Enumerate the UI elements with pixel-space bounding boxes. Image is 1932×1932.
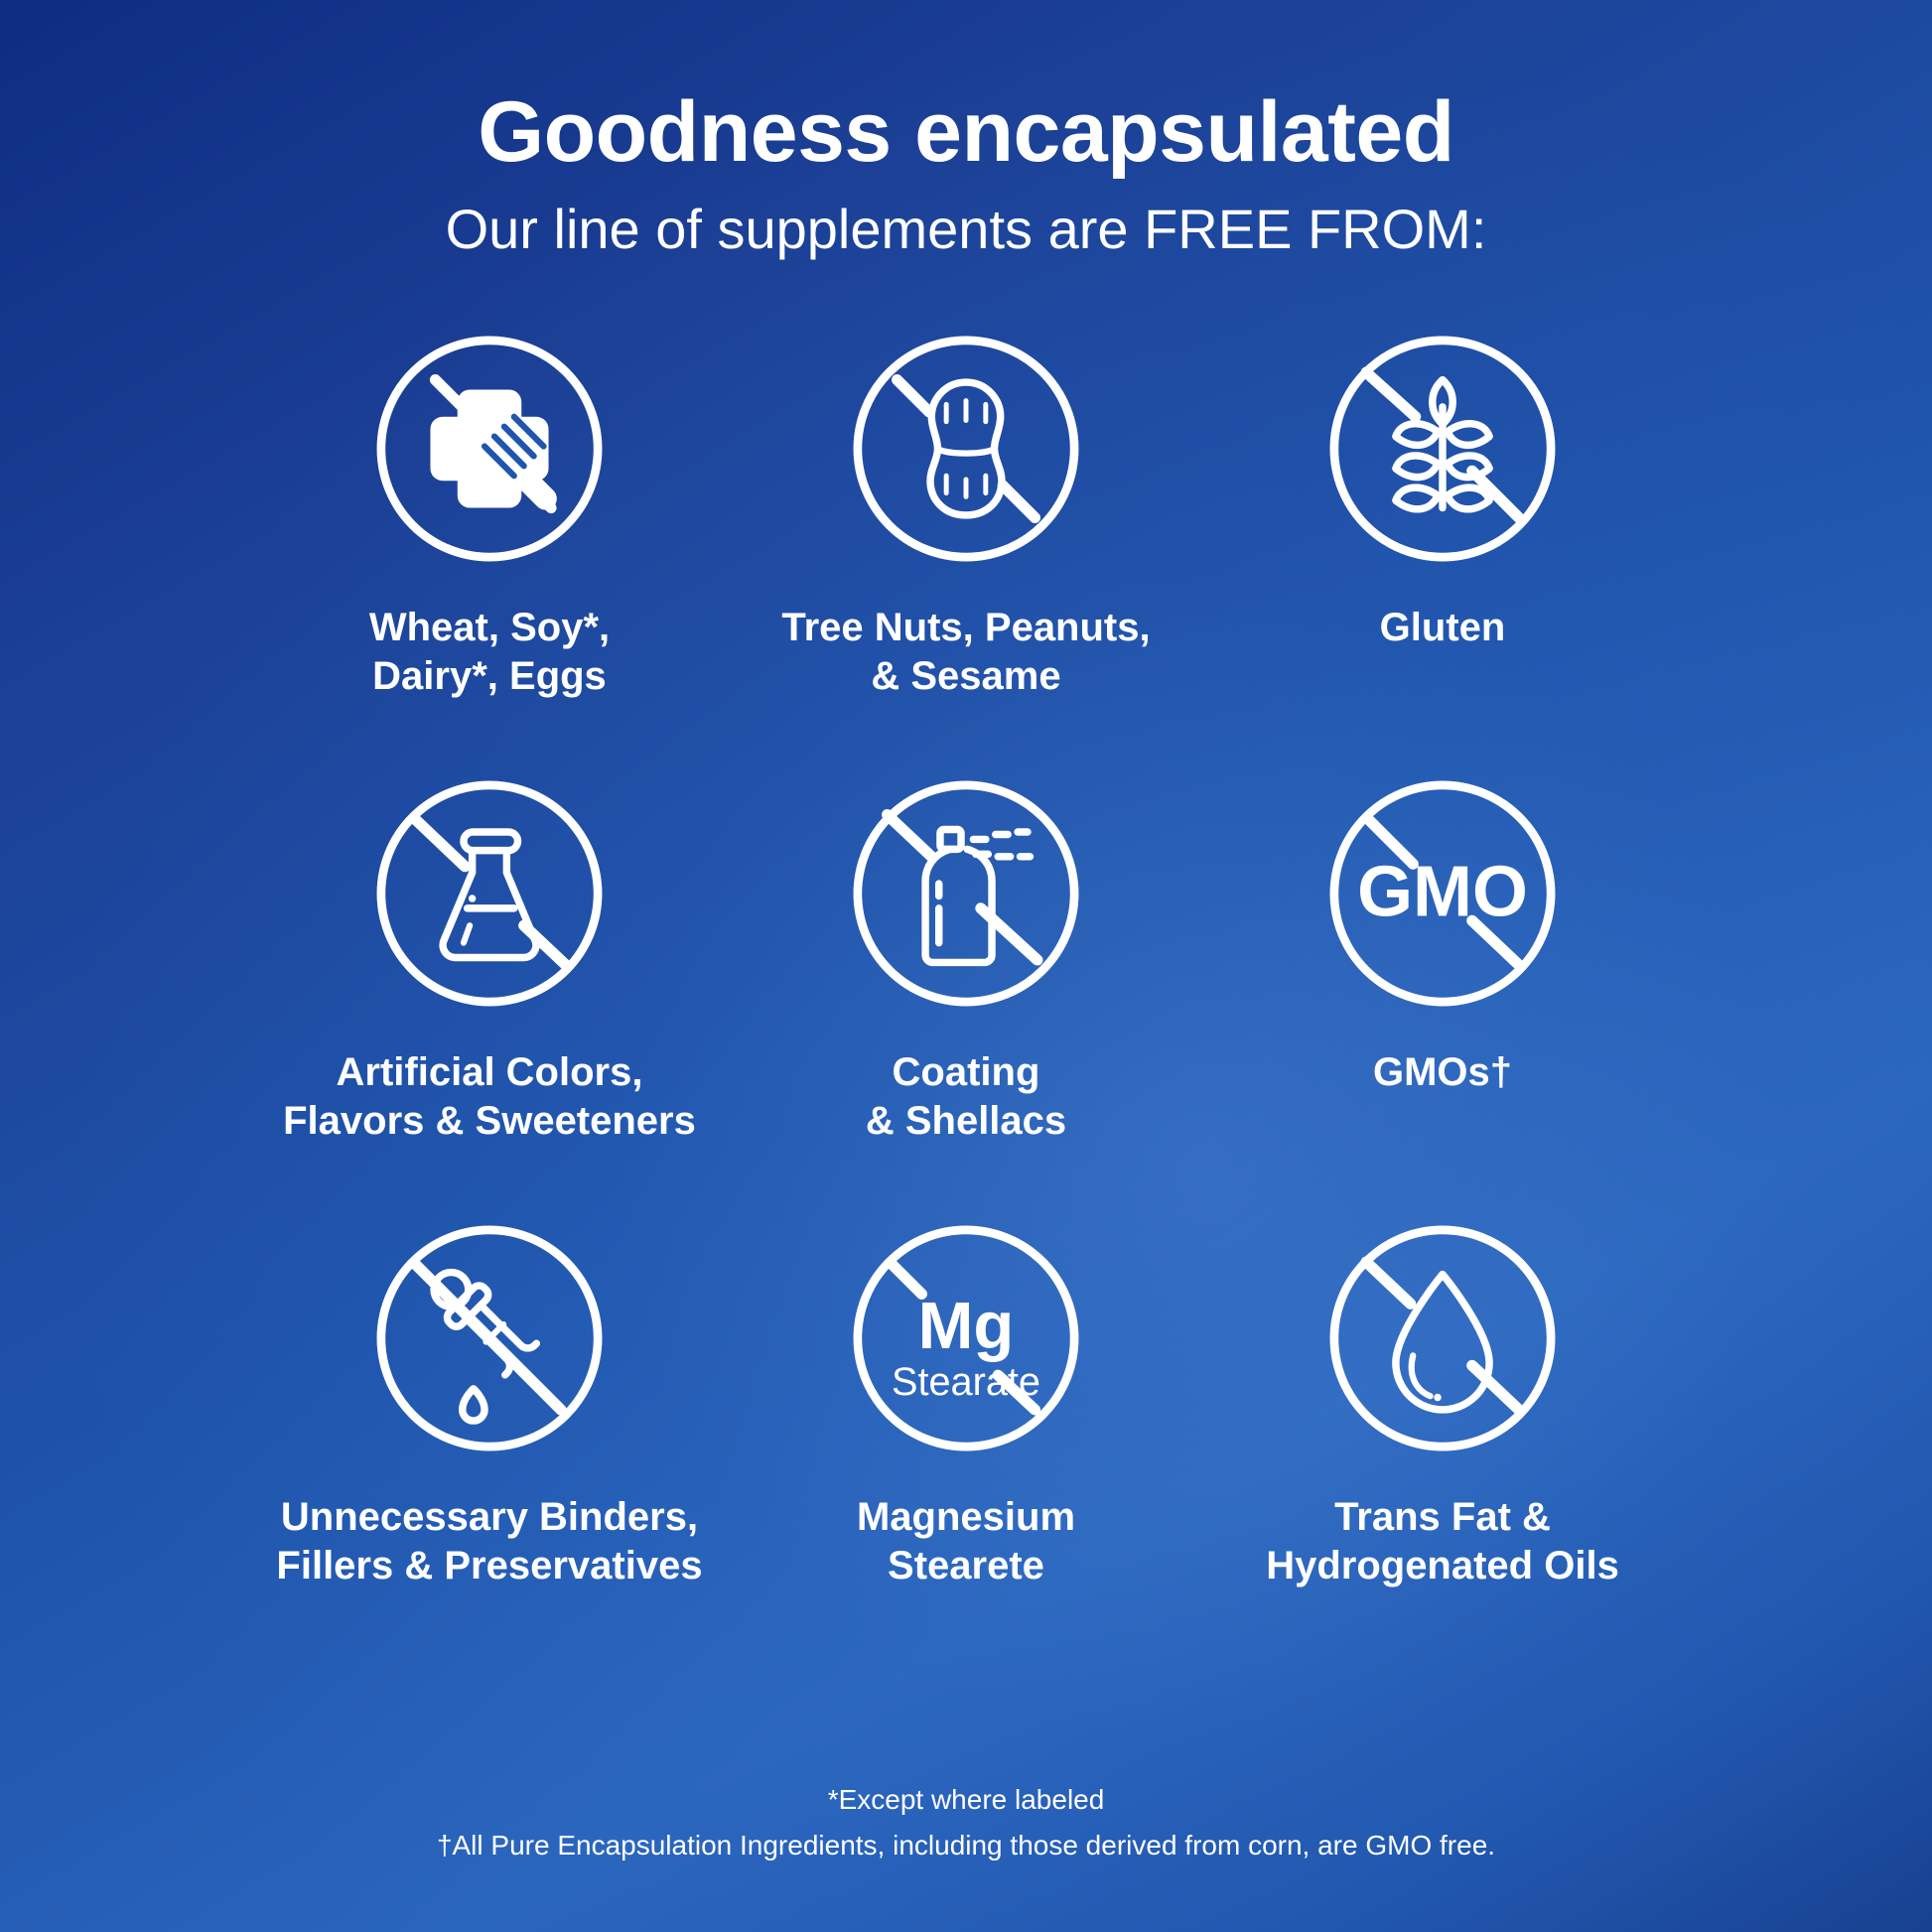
free-from-item-coating: Coating & Shellacs: [728, 770, 1204, 1215]
no-allergen-fork-cross-icon: [366, 326, 613, 572]
no-spray-can-icon: [843, 770, 1089, 1017]
no-mg-stearate-icon: Mg Stearate: [843, 1215, 1089, 1461]
free-from-item-label: Wheat, Soy*, Dairy*, Eggs: [369, 604, 610, 701]
free-from-item-label: Tree Nuts, Peanuts, & Sesame: [781, 604, 1150, 701]
no-peanut-icon: [843, 326, 1089, 572]
no-gmo-icon: GMO: [1319, 770, 1566, 1017]
no-flask-icon: [366, 770, 613, 1017]
no-oil-droplet-icon: [1319, 1215, 1566, 1461]
free-from-item-nuts: Tree Nuts, Peanuts, & Sesame: [728, 326, 1204, 770]
page-title: Goodness encapsulated: [446, 87, 1487, 177]
free-from-item-gmo: GMO GMOs†: [1204, 770, 1681, 1215]
free-from-item-label: Artificial Colors, Flavors & Sweeteners: [283, 1048, 696, 1146]
no-dropper-icon: [366, 1215, 613, 1461]
free-from-grid: Wheat, Soy*, Dairy*, Eggs Tree Nuts, Pea…: [251, 326, 1681, 1660]
free-from-item-label: GMOs†: [1373, 1048, 1512, 1097]
header: Goodness encapsulated Our line of supple…: [446, 0, 1487, 260]
free-from-item-label: Trans Fat & Hydrogenated Oils: [1266, 1493, 1619, 1590]
free-from-item-trans-fat: Trans Fat & Hydrogenated Oils: [1204, 1215, 1681, 1660]
footnote-dagger: †All Pure Encapsulation Ingredients, inc…: [0, 1825, 1932, 1866]
free-from-item-label: Unnecessary Binders, Fillers & Preservat…: [276, 1493, 702, 1590]
free-from-item-label: Gluten: [1380, 604, 1506, 652]
page-subtitle: Our line of supplements are FREE FROM:: [446, 199, 1487, 260]
footnotes: *Except where labeled †All Pure Encapsul…: [0, 1779, 1932, 1866]
infographic-page: Goodness encapsulated Our line of supple…: [0, 0, 1932, 1932]
stearate-icon-text: Stearate: [892, 1360, 1040, 1404]
free-from-item-gluten: Gluten: [1204, 326, 1681, 770]
free-from-item-label: Coating & Shellacs: [866, 1048, 1066, 1146]
no-wheat-stalk-icon: [1319, 326, 1566, 572]
mg-icon-text: Mg: [918, 1289, 1015, 1363]
free-from-item-binders: Unnecessary Binders, Fillers & Preservat…: [251, 1215, 728, 1660]
footnote-asterisk: *Except where labeled: [0, 1779, 1932, 1821]
free-from-item-mg-stearate: Mg Stearate Magnesium Stearete: [728, 1215, 1204, 1660]
free-from-item-label: Magnesium Stearete: [857, 1493, 1075, 1590]
gmo-icon-text: GMO: [1357, 852, 1528, 931]
free-from-item-artificial-colors: Artificial Colors, Flavors & Sweeteners: [251, 770, 728, 1215]
free-from-item-allergens: Wheat, Soy*, Dairy*, Eggs: [251, 326, 728, 770]
